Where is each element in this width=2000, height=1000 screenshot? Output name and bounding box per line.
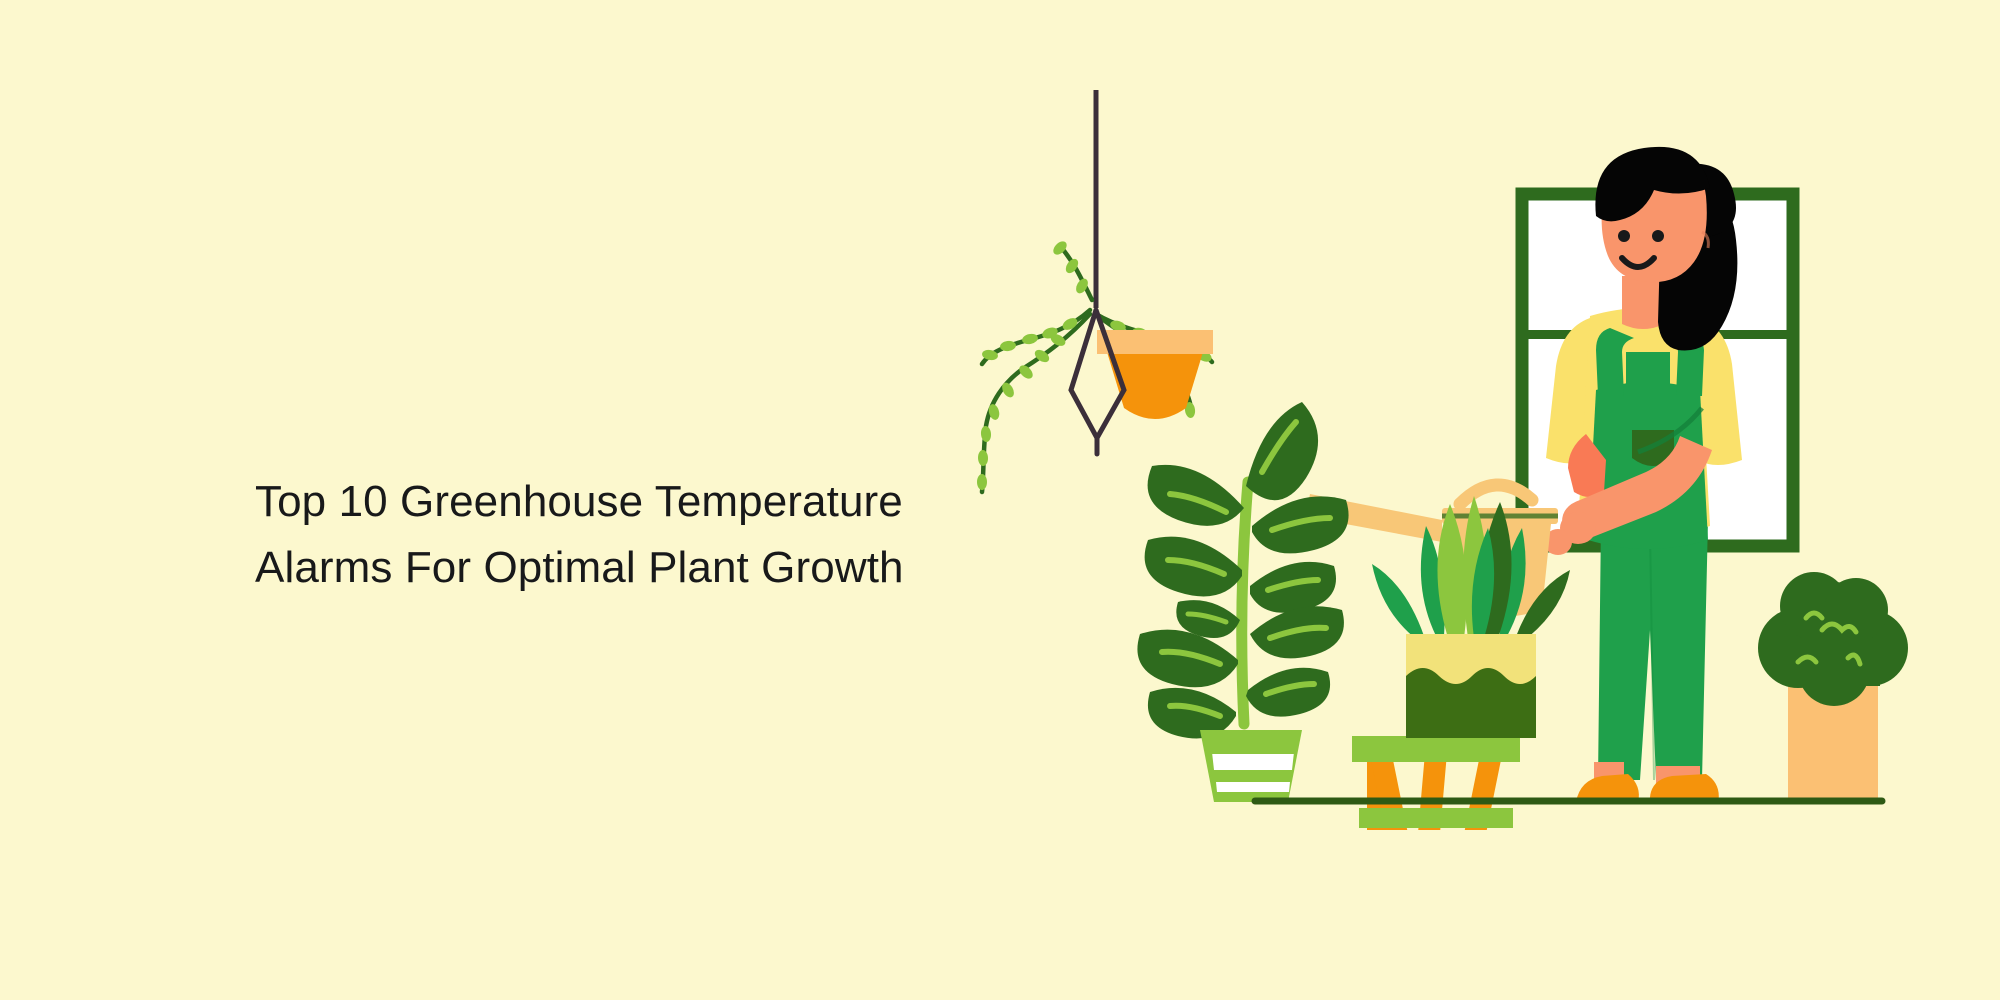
striped-pot (1200, 730, 1302, 802)
page-title-line-2: Alarms For Optimal Plant Growth (255, 535, 955, 600)
succulent-pot (1406, 634, 1536, 738)
woman-watering-plants-illustration (950, 90, 1950, 830)
banner-root: Top 10 Greenhouse Temperature Alarms For… (0, 0, 2000, 1000)
stool (1352, 736, 1520, 830)
topiary-bush (1758, 572, 1908, 706)
page-title: Top 10 Greenhouse Temperature Alarms For… (255, 469, 955, 599)
hanging-plant (977, 90, 1213, 492)
topiary-planter (1758, 572, 1908, 800)
floor-plant-striped-pot (1137, 402, 1348, 802)
page-title-line-1: Top 10 Greenhouse Temperature (255, 469, 955, 534)
